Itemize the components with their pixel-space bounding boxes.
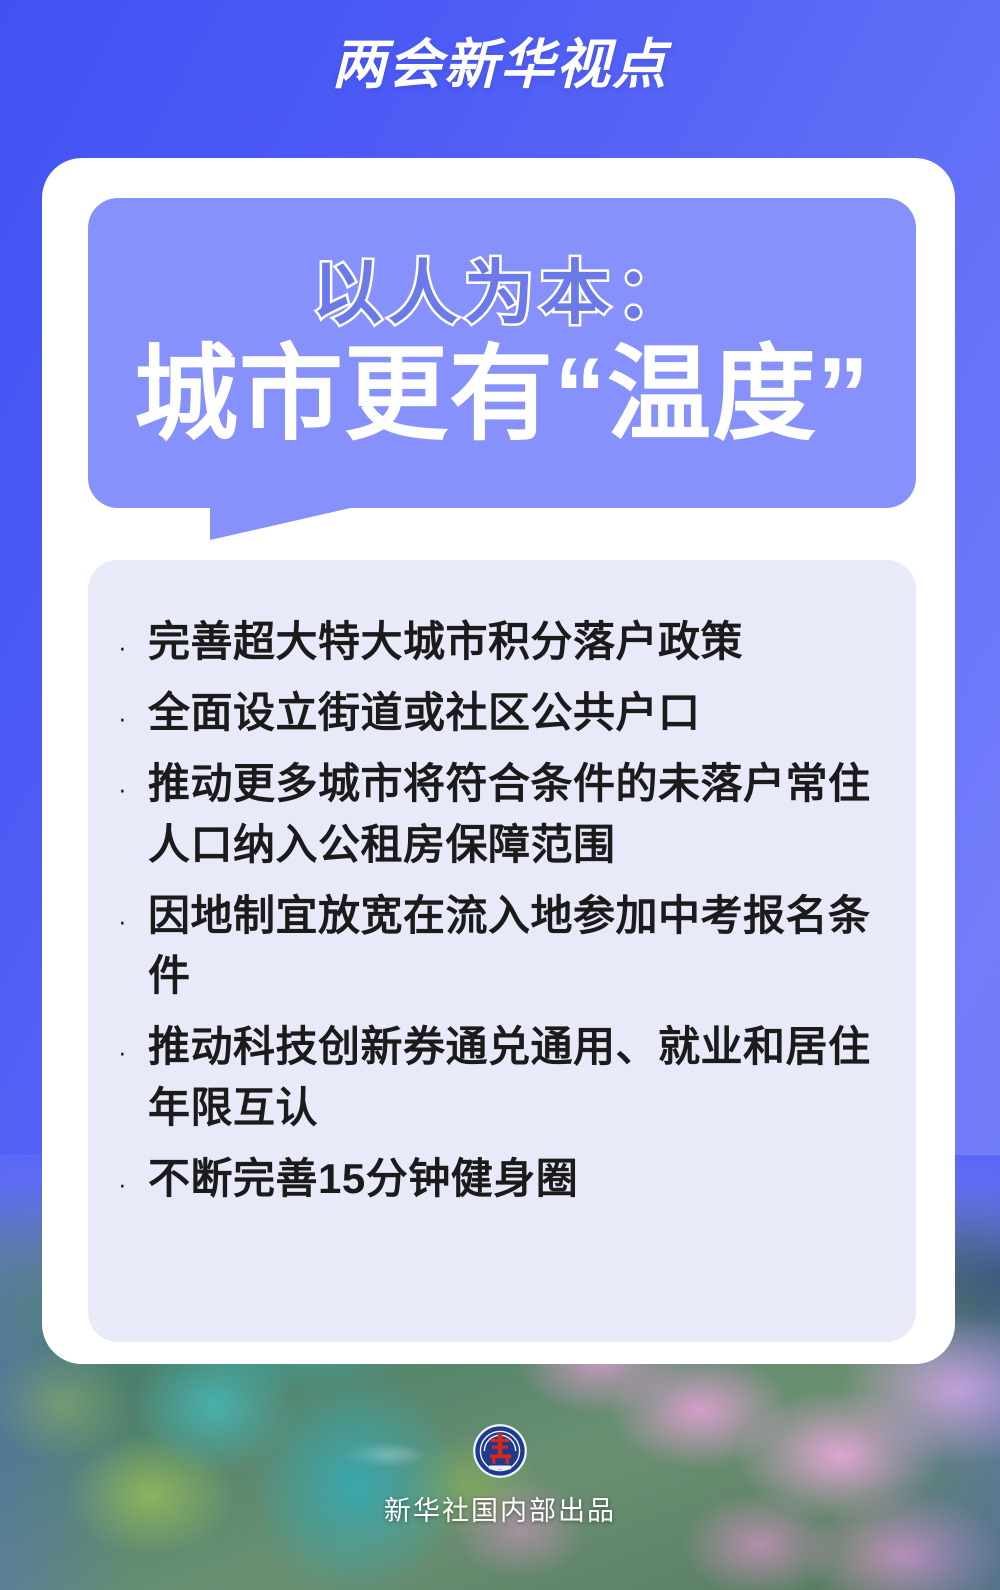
speech-bubble-tail	[210, 504, 368, 540]
list-item: ·不断完善15分钟健身圈	[118, 1149, 908, 1210]
list-item-label: 完善超大特大城市积分落户政策	[148, 612, 908, 673]
xinhua-agency-logo-icon	[472, 1423, 528, 1479]
list-item: ·推动更多城市将符合条件的未落户常住人口纳入公租房保障范围	[118, 754, 908, 876]
bullet-dot-icon: ·	[118, 683, 148, 731]
footer: 新华社国内部出品	[0, 1423, 1000, 1528]
title-line-2: 城市更有“温度”	[134, 338, 870, 452]
list-item-label: 推动科技创新券通兑通用、就业和居住年限互认	[148, 1017, 908, 1139]
list-item: ·推动科技创新券通兑通用、就业和居住年限互认	[118, 1017, 908, 1139]
list-item-label: 全面设立街道或社区公共户口	[148, 683, 908, 744]
footer-credit-text: 新华社国内部出品	[384, 1489, 616, 1528]
bullet-dot-icon: ·	[118, 754, 148, 802]
list-item: ·全面设立街道或社区公共户口	[118, 683, 908, 744]
bullet-dot-icon: ·	[118, 886, 148, 934]
page-title: 两会新华视点	[0, 38, 1000, 92]
title-speech-bubble: 以人为本： 城市更有“温度”	[88, 198, 916, 508]
bullet-dot-icon: ·	[118, 612, 148, 660]
list-item: ·完善超大特大城市积分落户政策	[118, 612, 908, 673]
bullet-dot-icon: ·	[118, 1149, 148, 1197]
list-item-label: 不断完善15分钟健身圈	[148, 1149, 908, 1210]
list-item-label: 因地制宜放宽在流入地参加中考报名条件	[148, 886, 908, 1008]
policy-bullet-list: ·完善超大特大城市积分落户政策·全面设立街道或社区公共户口·推动更多城市将符合条…	[118, 612, 908, 1220]
poster-root: 两会新华视点 以人为本： 城市更有“温度” ·完善超大特大城市积分落户政策·全面…	[0, 0, 1000, 1590]
title-line-1: 以人为本：	[312, 254, 692, 332]
list-item: ·因地制宜放宽在流入地参加中考报名条件	[118, 886, 908, 1008]
list-item-label: 推动更多城市将符合条件的未落户常住人口纳入公租房保障范围	[148, 754, 908, 876]
bullet-dot-icon: ·	[118, 1017, 148, 1065]
